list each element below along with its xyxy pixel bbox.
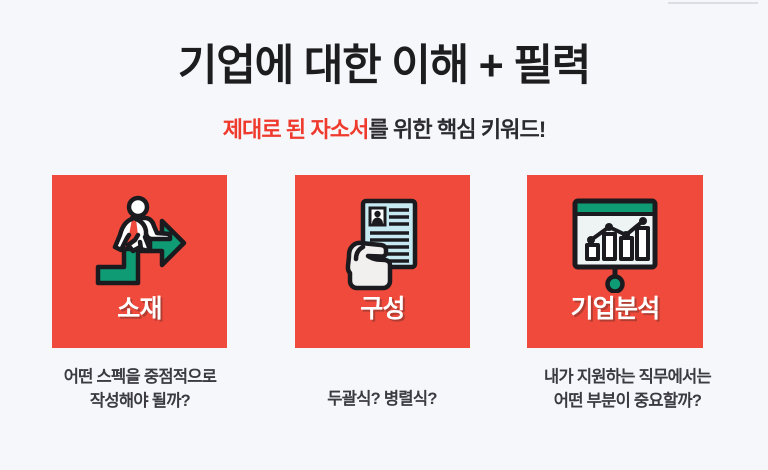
card-caption-gieopbunseok: 내가 지원하는 직무에서는 어떤 부분이 중요할까? <box>487 366 768 414</box>
card-label-sojae: 소재 <box>117 297 161 322</box>
caption-line-1: 어떤 스펙을 중점적으로 <box>64 368 217 386</box>
card-label-guseong: 구성 <box>360 297 404 322</box>
caption-line-1: 내가 지원하는 직무에서는 <box>544 368 711 386</box>
subtitle-highlight: 제대로 된 자소서 <box>223 117 369 142</box>
subtitle-exclamation: ! <box>539 117 545 142</box>
person-climbing-stairs-arrow-icon <box>88 193 192 293</box>
presentation-chart-board-icon <box>567 193 663 293</box>
slide-canvas: 기업에 대한 이해 + 필력 제대로 된 자소서를 위한 핵심 키워드! <box>0 0 768 470</box>
card-caption-guseong: 두괄식? 병렬식? <box>272 388 492 412</box>
card-caption-sojae: 어떤 스펙을 중점적으로 작성해야 될까? <box>0 366 280 414</box>
keyword-card-row: 소재 <box>0 175 768 348</box>
caption-line-1: 두괄식? 병렬식? <box>327 390 437 408</box>
caption-line-2: 어떤 부분이 중요할까? <box>487 390 768 414</box>
hand-holding-resume-icon <box>335 193 431 293</box>
subtitle-rest: 를 위한 핵심 키워드 <box>369 117 539 142</box>
caption-line-2: 작성해야 될까? <box>0 390 280 414</box>
page-title: 기업에 대한 이해 + 필력 <box>0 44 768 90</box>
page-subtitle: 제대로 된 자소서를 위한 핵심 키워드! <box>0 118 768 142</box>
keyword-card-sojae[interactable]: 소재 <box>52 175 227 348</box>
keyword-card-guseong[interactable]: 구성 <box>295 175 470 348</box>
keyword-card-gieopbunseok[interactable]: 기업분석 <box>527 175 703 348</box>
top-divider-line <box>668 2 758 4</box>
card-label-gieopbunseok: 기업분석 <box>571 297 660 322</box>
